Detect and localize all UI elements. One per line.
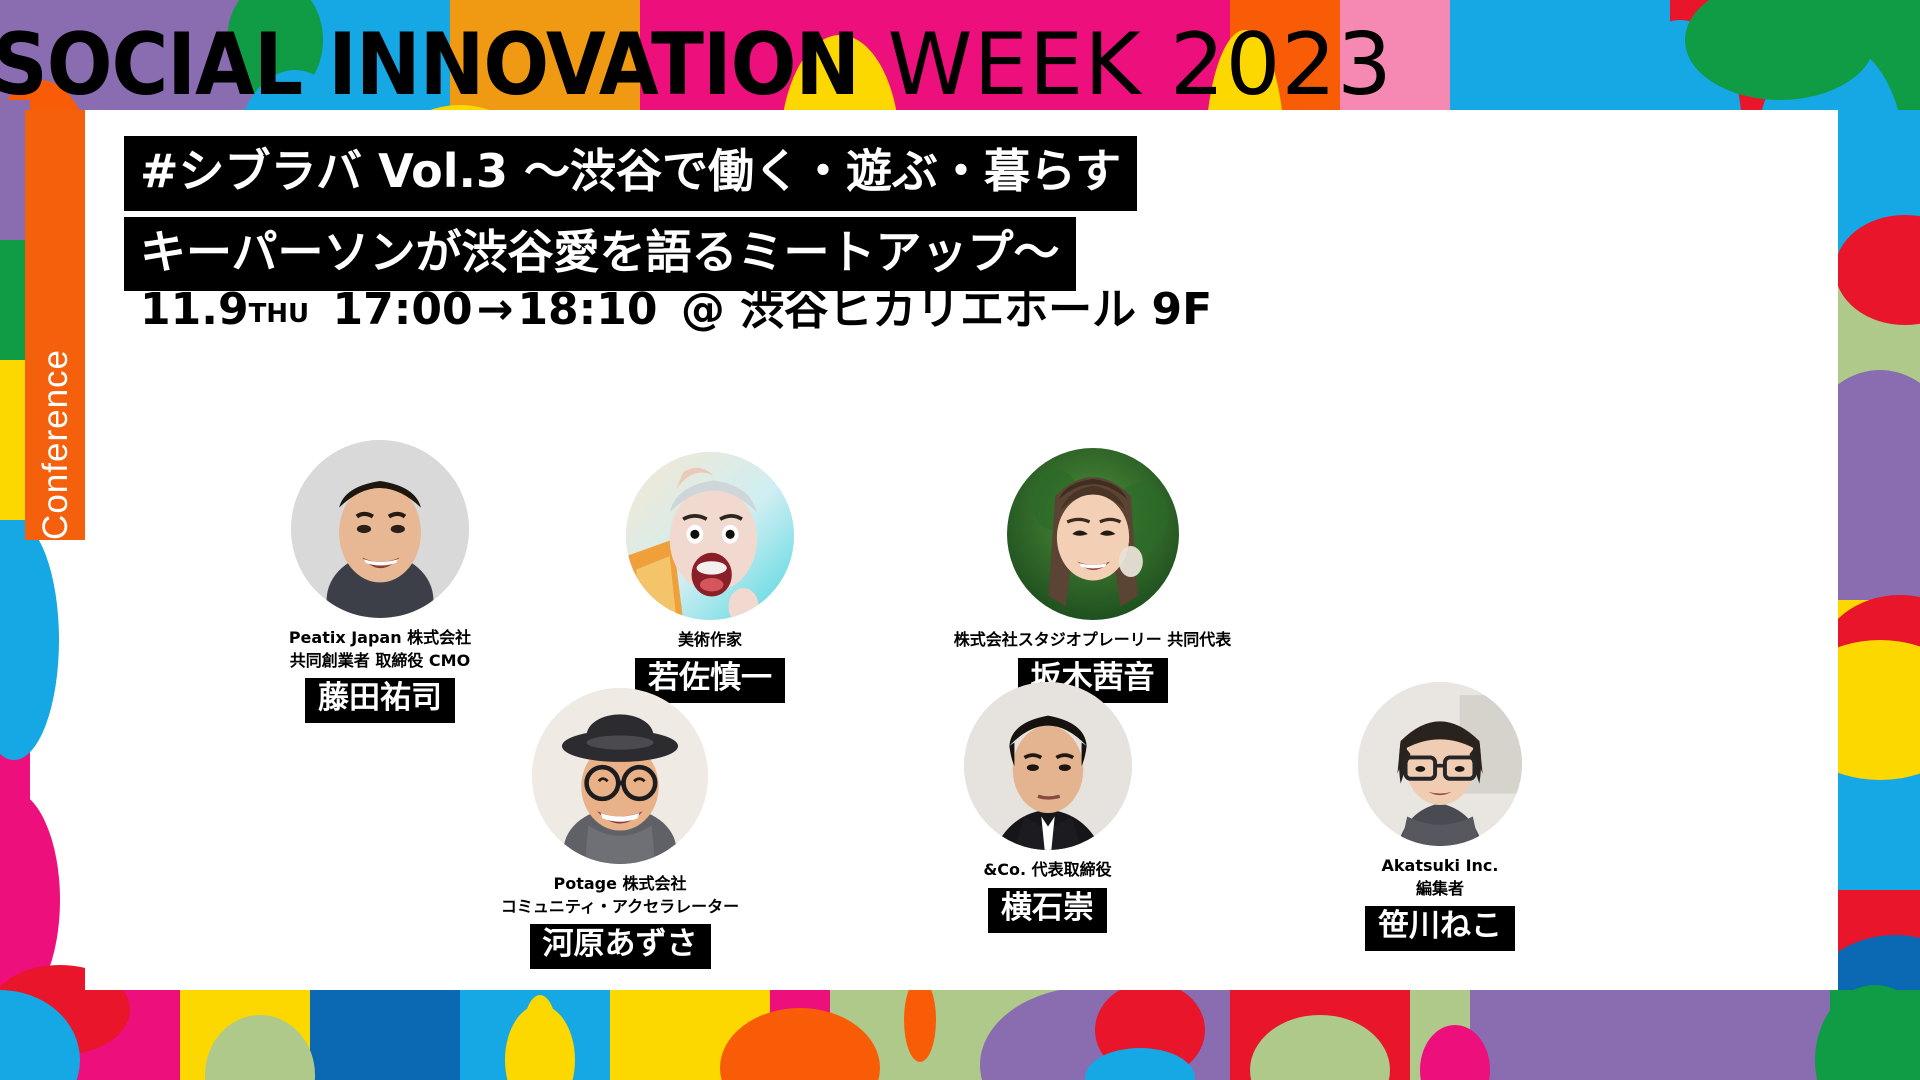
event-schedule-line: 11.9THU 17:00→18:10 @ 渋谷ヒカリエホール 9F — [140, 288, 1212, 332]
schedule-at-symbol: @ — [681, 284, 725, 335]
schedule-arrow-icon: → — [473, 284, 518, 335]
speaker-name-badge-1: 藤田祐司 — [305, 678, 455, 723]
speaker-portrait-kawahara-azusa — [532, 688, 708, 864]
speaker-affiliation-1: Peatix Japan 株式会社 共同創業者 取締役 CMO — [220, 627, 540, 672]
speaker-card-yokoishi-takashi: &Co. 代表取締役 横石崇 — [910, 682, 1185, 933]
speaker-portrait-wakasa-shinichi — [626, 452, 794, 620]
schedule-venue: 渋谷ヒカリエホール 9F — [740, 284, 1212, 335]
speaker-card-sakaki-akane: 株式会社スタジオプレーリー 共同代表 坂木茜音 — [880, 448, 1305, 703]
speaker-affiliation-6-line1: Akatsuki Inc. — [1295, 855, 1585, 878]
schedule-date: 11.9 — [140, 284, 249, 335]
speaker-affiliation-2: 美術作家 — [575, 629, 845, 652]
event-title-block: #シブラバ Vol.3 ～渋谷で働く・遊ぶ・暮らす キーパーソンが渋谷愛を語るミ… — [124, 136, 1920, 291]
speaker-affiliation-2-line1: 美術作家 — [575, 629, 845, 652]
speaker-affiliation-6: Akatsuki Inc. 編集者 — [1295, 855, 1585, 900]
siw-brand-light: WEEK 2023 — [859, 15, 1393, 115]
siw-brand-header: SOCIAL INNOVATION WEEK 2023 — [0, 22, 1393, 108]
siw-brand-bold: SOCIAL INNOVATION — [0, 15, 859, 115]
speaker-card-sasagawa-neko: Akatsuki Inc. 編集者 笹川ねこ — [1295, 682, 1585, 951]
speaker-affiliation-4: Potage 株式会社 コミュニティ・アクセラレーター — [460, 873, 780, 918]
speaker-card-fujita-yuji: Peatix Japan 株式会社 共同創業者 取締役 CMO 藤田祐司 — [220, 440, 540, 723]
speaker-affiliation-4-line1: Potage 株式会社 — [460, 873, 780, 896]
schedule-start-time: 17:00 — [333, 284, 473, 335]
speaker-name-badge-5: 横石崇 — [988, 888, 1107, 933]
speaker-card-kawahara-azusa: Potage 株式会社 コミュニティ・アクセラレーター 河原あずさ — [460, 688, 780, 969]
speaker-affiliation-6-line2: 編集者 — [1295, 878, 1585, 901]
speaker-affiliation-5: &Co. 代表取締役 — [910, 859, 1185, 882]
event-title-line-2: キーパーソンが渋谷愛を語るミートアップ～ — [124, 217, 1076, 292]
schedule-day-of-week: THU — [249, 299, 310, 329]
speaker-card-wakasa-shinichi: 美術作家 若佐慎一 — [575, 452, 845, 703]
speaker-affiliation-3-line1: 株式会社スタジオプレーリー 共同代表 — [880, 629, 1305, 652]
speaker-name-badge-6: 笹川ねこ — [1365, 906, 1515, 951]
speaker-affiliation-1-line2: 共同創業者 取締役 CMO — [220, 650, 540, 673]
speaker-affiliation-5-line1: &Co. 代表取締役 — [910, 859, 1185, 882]
speaker-affiliation-1-line1: Peatix Japan 株式会社 — [220, 627, 540, 650]
conference-category-band — [25, 110, 85, 540]
speaker-portrait-yokoishi-takashi — [964, 682, 1132, 850]
event-title-line-1: #シブラバ Vol.3 ～渋谷で働く・遊ぶ・暮らす — [124, 136, 1137, 211]
speaker-portrait-sakaki-akane — [1007, 448, 1179, 620]
speaker-affiliation-4-line2: コミュニティ・アクセラレーター — [460, 896, 780, 919]
speaker-portrait-fujita-yuji — [291, 440, 469, 618]
schedule-end-time: 18:10 — [517, 284, 657, 335]
speaker-name-badge-4: 河原あずさ — [530, 924, 711, 969]
speaker-portrait-sasagawa-neko — [1358, 682, 1522, 846]
speaker-affiliation-3: 株式会社スタジオプレーリー 共同代表 — [880, 629, 1305, 652]
